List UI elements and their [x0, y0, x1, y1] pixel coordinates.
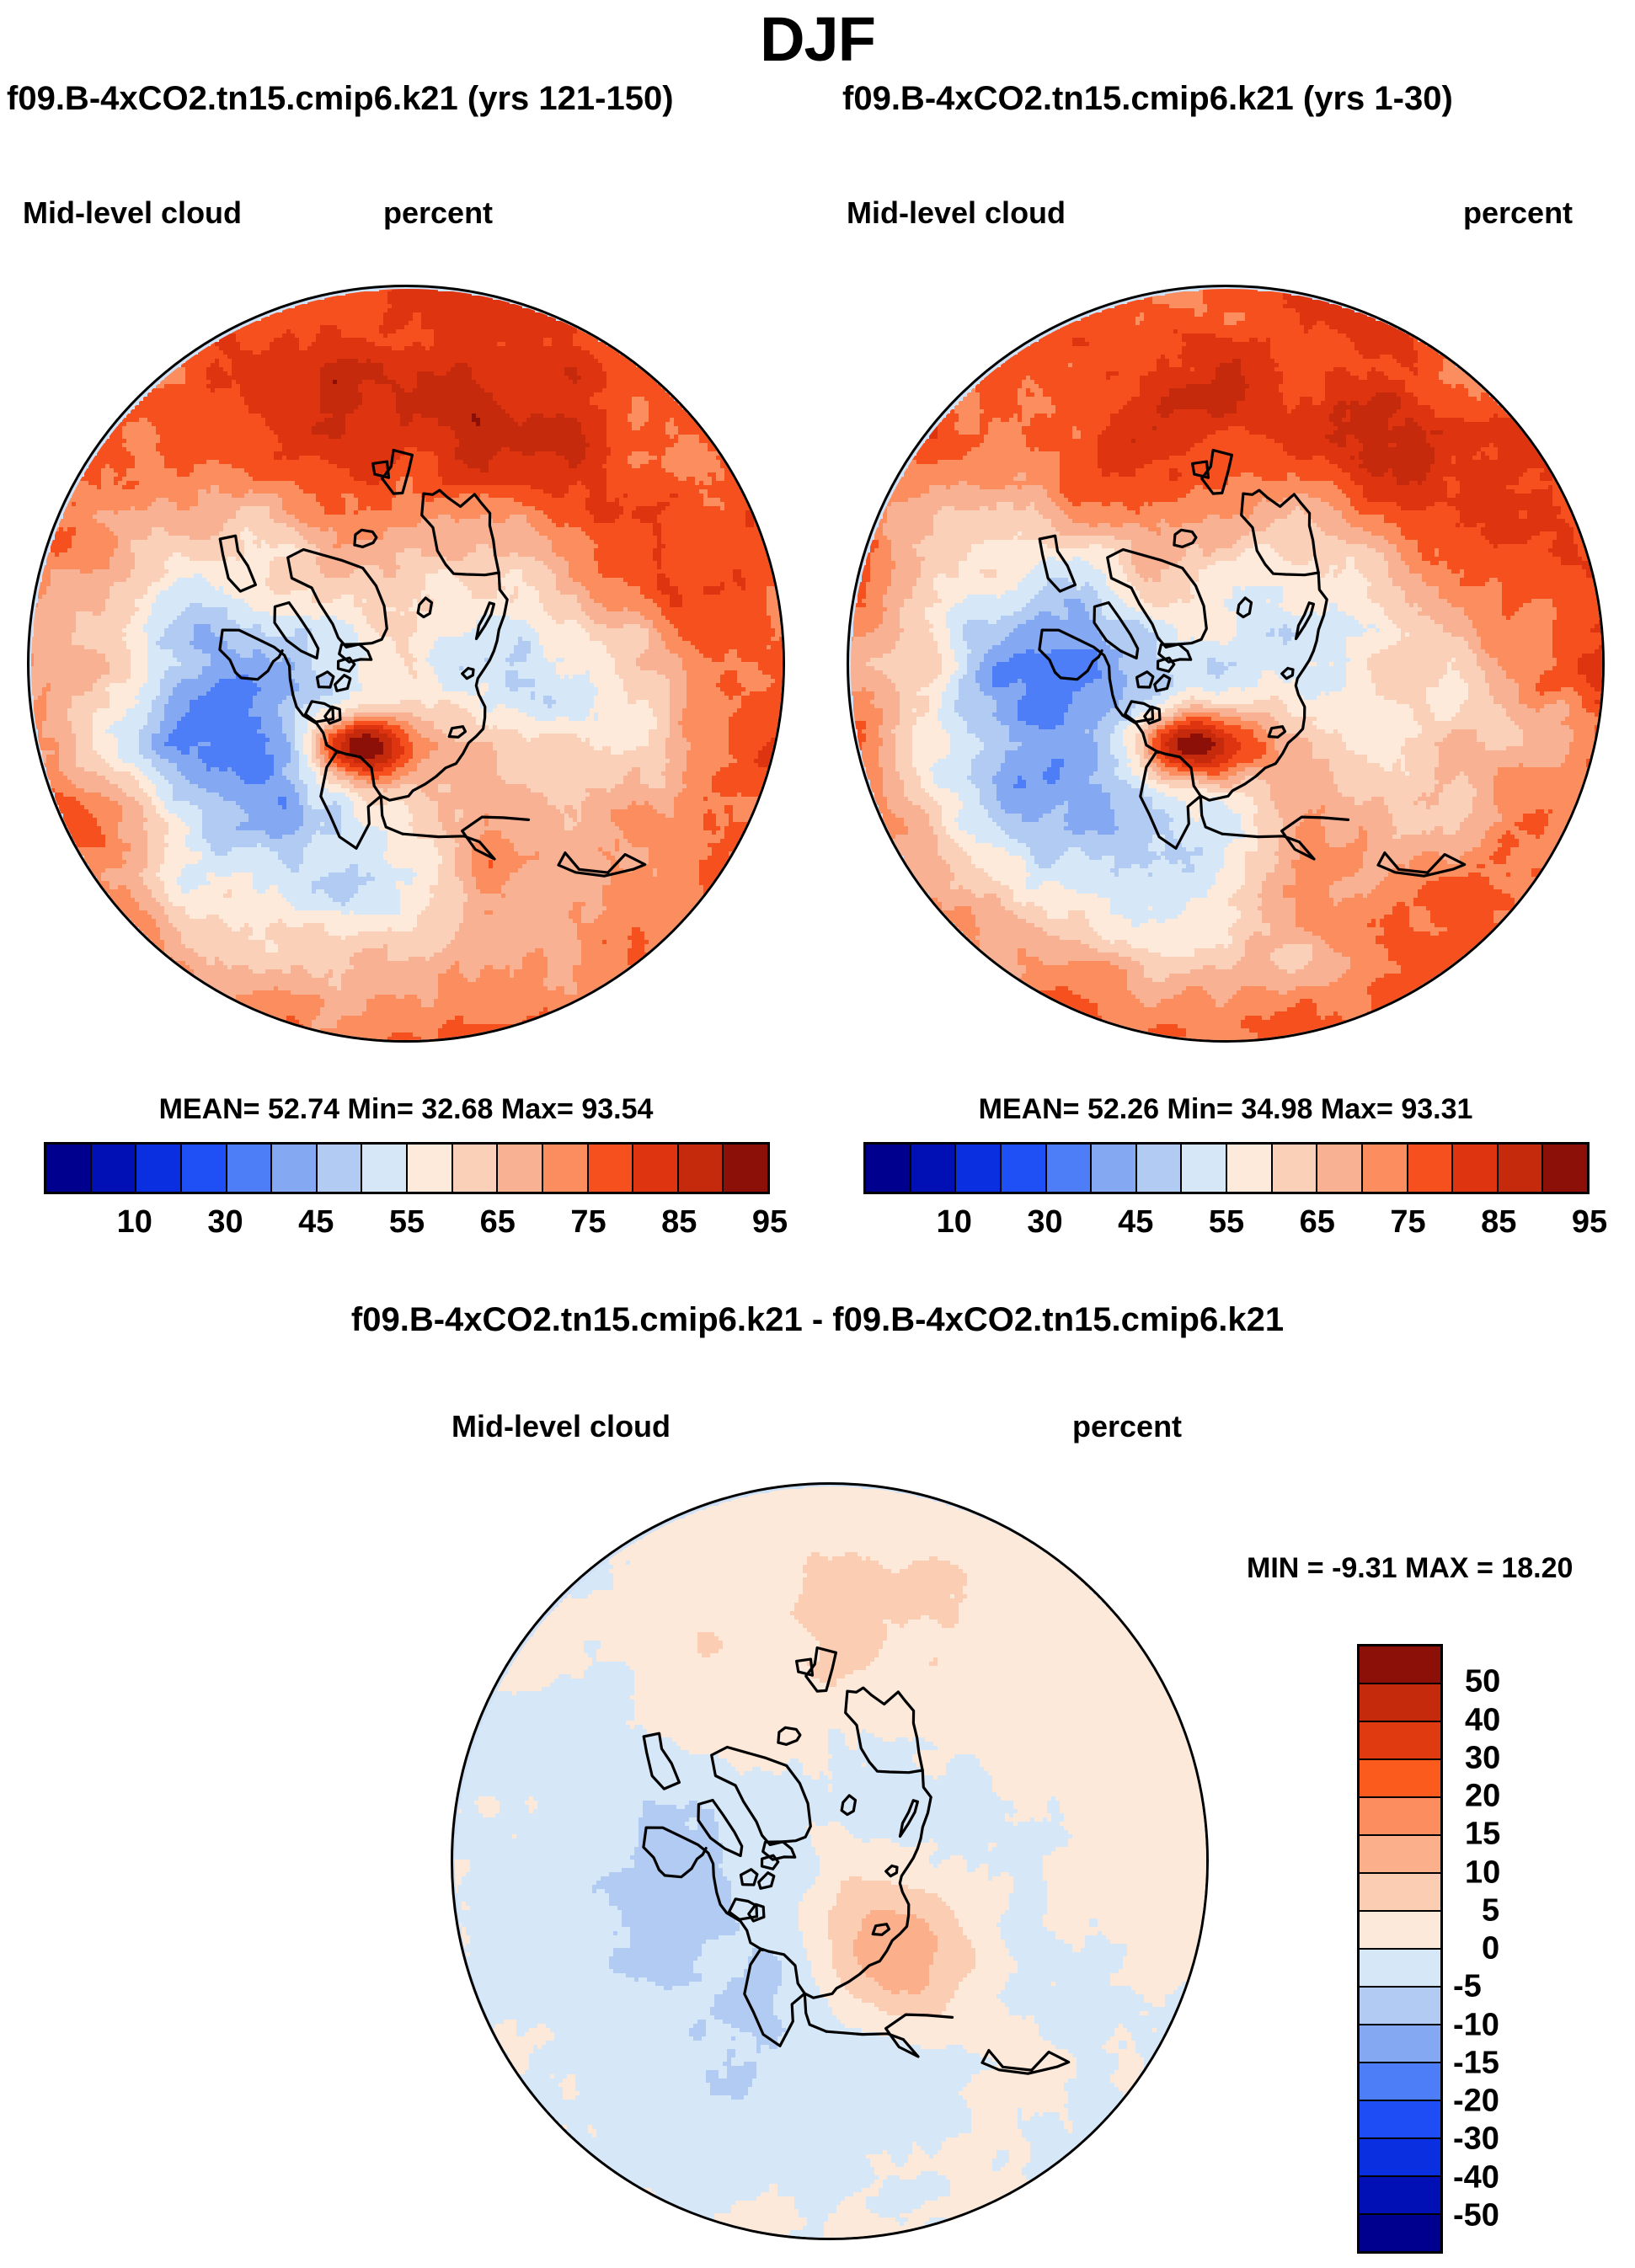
colorbar-tick-label: -30: [1453, 2121, 1499, 2158]
colorbar-cell: [1360, 1798, 1440, 1836]
field-label-top-left: Mid-level cloud: [23, 195, 242, 231]
colorbar-cell: [1360, 1988, 1440, 2025]
colorbar-tick-label: 45: [1118, 1204, 1153, 1241]
field-label-difference: Mid-level cloud: [451, 1409, 671, 1444]
figure-title: DJF: [0, 3, 1635, 75]
colorbar-cell: [1408, 1145, 1454, 1192]
colorbar-cell: [1360, 1722, 1440, 1760]
colorbar-top-left-cells: [44, 1142, 770, 1194]
colorbar-cell: [453, 1145, 499, 1192]
colorbar-cell: [227, 1145, 273, 1192]
colorbar-difference[interactable]: [1357, 1644, 1443, 2254]
colorbar-cell: [1273, 1145, 1318, 1192]
colorbar-cell: [92, 1145, 137, 1192]
colorbar-cell: [911, 1145, 957, 1192]
panel-title-top-right: f09.B-4xCO2.tn15.cmip6.k21 (yrs 1-30): [842, 80, 1453, 118]
panel-title-difference: f09.B-4xCO2.tn15.cmip6.k21 - f09.B-4xCO2…: [0, 1301, 1635, 1339]
colorbar-tick-label: 10: [1465, 1854, 1500, 1891]
colorbar-tick-label: -20: [1453, 2084, 1499, 2120]
colorbar-cell: [1227, 1145, 1273, 1192]
minmax-difference: MIN = -9.31 MAX = 18.20: [1247, 1552, 1573, 1585]
colorbar-tick-label: 75: [1390, 1204, 1425, 1241]
colorbar-cell: [1182, 1145, 1227, 1192]
colorbar-tick-label: 75: [570, 1204, 606, 1241]
colorbar-top-right-cells: [863, 1142, 1590, 1194]
colorbar-tick-label: 95: [1572, 1204, 1607, 1241]
polar-map-top-left-canvas: [29, 287, 785, 1043]
colorbar-tick-label: 85: [661, 1204, 697, 1241]
polar-map-top-right-canvas: [849, 287, 1605, 1043]
colorbar-cell: [182, 1145, 227, 1192]
colorbar-tick-label: 0: [1482, 1931, 1499, 1967]
colorbar-cell: [1360, 2177, 1440, 2215]
colorbar-cell: [1092, 1145, 1137, 1192]
stats-top-left: MEAN= 52.74 Min= 32.68 Max= 93.54: [27, 1093, 785, 1126]
colorbar-tick-label: 10: [937, 1204, 972, 1241]
colorbar-cell: [1002, 1145, 1047, 1192]
colorbar-cell: [1047, 1145, 1093, 1192]
colorbar-tick-label: 65: [1300, 1204, 1335, 1241]
colorbar-top-left-ticks: 1030455565758595: [44, 1204, 770, 1248]
colorbar-tick-label: -50: [1453, 2197, 1499, 2233]
colorbar-tick-label: 95: [752, 1204, 788, 1241]
colorbar-cell: [408, 1145, 453, 1192]
colorbar-cell: [1360, 1912, 1440, 1950]
stats-top-right: MEAN= 52.26 Min= 34.98 Max= 93.31: [847, 1093, 1605, 1126]
colorbar-cell: [1453, 1145, 1499, 1192]
colorbar-cell: [272, 1145, 318, 1192]
polar-map-difference-canvas: [453, 1485, 1209, 2240]
colorbar-cell: [543, 1145, 589, 1192]
colorbar-tick-label: 20: [1465, 1779, 1500, 1815]
colorbar-cell: [498, 1145, 543, 1192]
colorbar-tick-label: -15: [1453, 2045, 1499, 2081]
colorbar-tick-label: 50: [1465, 1664, 1500, 1700]
colorbar-tick-label: 10: [117, 1204, 152, 1241]
colorbar-tick-label: 30: [1465, 1740, 1500, 1776]
colorbar-cell: [1543, 1145, 1587, 1192]
colorbar-tick-label: 5: [1482, 1892, 1499, 1929]
colorbar-cell: [589, 1145, 634, 1192]
colorbar-cell: [1360, 2025, 1440, 2063]
colorbar-tick-label: 65: [480, 1204, 516, 1241]
polar-map-difference: [451, 1482, 1209, 2240]
colorbar-top-right-ticks: 1030455565758595: [863, 1204, 1590, 1248]
colorbar-cell: [1360, 2139, 1440, 2177]
colorbar-cell: [1360, 1950, 1440, 1988]
colorbar-tick-label: 40: [1465, 1702, 1500, 1738]
colorbar-cell: [318, 1145, 363, 1192]
polar-map-top-left: [27, 285, 785, 1043]
colorbar-cell: [866, 1145, 911, 1192]
colorbar-cell: [724, 1145, 767, 1192]
field-label-top-right: Mid-level cloud: [847, 195, 1066, 231]
colorbar-top-left[interactable]: 1030455565758595: [44, 1142, 770, 1248]
colorbar-tick-label: -10: [1453, 2007, 1499, 2043]
colorbar-cell: [1360, 1836, 1440, 1874]
colorbar-cell: [1363, 1145, 1408, 1192]
colorbar-cell: [1360, 2063, 1440, 2101]
colorbar-cell: [1360, 1684, 1440, 1722]
colorbar-cell: [1317, 1145, 1363, 1192]
colorbar-cell: [1360, 2101, 1440, 2139]
panel-title-top-left: f09.B-4xCO2.tn15.cmip6.k21 (yrs 121-150): [7, 80, 674, 118]
colorbar-tick-label: 85: [1481, 1204, 1516, 1241]
colorbar-tick-label: 30: [1027, 1204, 1062, 1241]
colorbar-cell: [1499, 1145, 1544, 1192]
unit-label-difference: percent: [1072, 1409, 1182, 1444]
unit-label-top-right: percent: [1463, 195, 1573, 231]
colorbar-tick-label: 30: [207, 1204, 243, 1241]
colorbar-cell: [956, 1145, 1002, 1192]
colorbar-cell: [1360, 1760, 1440, 1798]
colorbar-tick-label: 15: [1465, 1817, 1500, 1853]
colorbar-cell: [679, 1145, 724, 1192]
colorbar-cell: [1137, 1145, 1183, 1192]
colorbar-tick-label: -40: [1453, 2159, 1499, 2196]
colorbar-cell: [1360, 2215, 1440, 2251]
colorbar-top-right[interactable]: 1030455565758595: [863, 1142, 1590, 1248]
colorbar-cell: [1360, 1874, 1440, 1912]
colorbar-cell: [136, 1145, 182, 1192]
colorbar-difference-ticks: 50403020151050-5-10-15-20-30-40-50: [1453, 1644, 1588, 2254]
colorbar-cell: [46, 1145, 92, 1192]
colorbar-cell: [362, 1145, 408, 1192]
colorbar-cell: [633, 1145, 679, 1192]
colorbar-cell: [1360, 1646, 1440, 1684]
colorbar-tick-label: 55: [1209, 1204, 1244, 1241]
colorbar-tick-label: 55: [389, 1204, 425, 1241]
colorbar-tick-label: 45: [298, 1204, 334, 1241]
colorbar-tick-label: -5: [1453, 1969, 1482, 2005]
polar-map-top-right: [847, 285, 1605, 1043]
unit-label-top-left: percent: [383, 195, 493, 231]
